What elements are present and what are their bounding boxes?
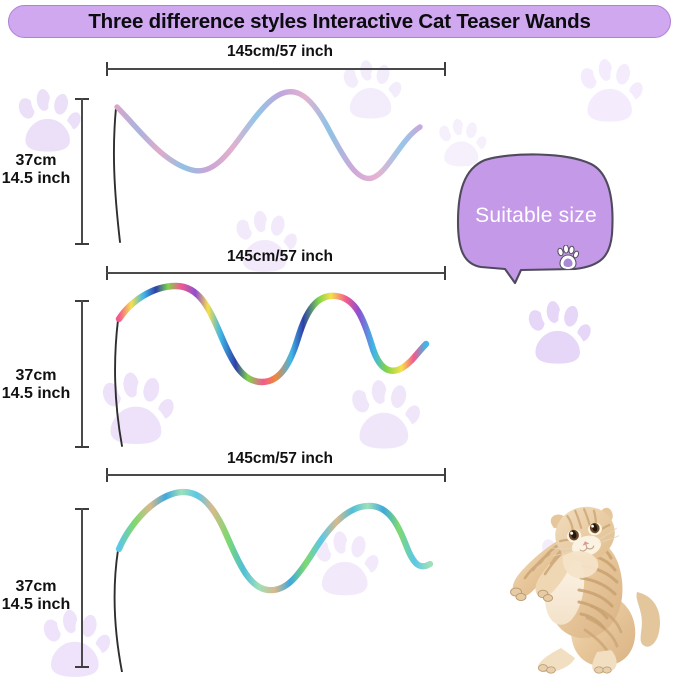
dimension-bar (81, 300, 83, 448)
wand-3-height-cm: 37cm (16, 578, 57, 595)
cat-photo (487, 500, 679, 680)
wand-2-height-label: 37cm 14.5 inch (0, 367, 72, 403)
wand-3-ribbon (100, 472, 450, 672)
wand-2-height-inch: 14.5 inch (2, 385, 70, 402)
wand-3-height-label: 37cm 14.5 inch (0, 578, 72, 614)
wand-3-height-inch: 14.5 inch (2, 596, 70, 613)
dimension-cap-bottom (75, 243, 89, 245)
wand-1-height-dimension-line (75, 98, 89, 245)
decorative-paw-icon (566, 48, 650, 134)
wand-1-height-label: 37cm 14.5 inch (0, 152, 72, 188)
wand-3-height-dimension-line (75, 508, 89, 668)
dimension-bar (81, 508, 83, 668)
wand-2-height-cm: 37cm (16, 367, 57, 384)
infographic-canvas: Three difference styles Interactive Cat … (0, 0, 679, 680)
wand-1-ribbon (100, 70, 450, 250)
wand-1-length-label: 145cm/57 inch (160, 43, 400, 61)
wand-1-height-cm: 37cm (16, 152, 57, 169)
dimension-cap-bottom (75, 446, 89, 448)
page-title: Three difference styles Interactive Cat … (88, 10, 590, 34)
wand-2-ribbon (100, 272, 450, 452)
header-banner: Three difference styles Interactive Cat … (8, 5, 671, 38)
cat-paw-icon (556, 245, 580, 271)
wand-3-length-label: 145cm/57 inch (160, 450, 400, 468)
wand-2-length-label: 145cm/57 inch (160, 248, 400, 266)
wand-1-height-inch: 14.5 inch (2, 170, 70, 187)
dimension-cap-bottom (75, 666, 89, 668)
suitable-size-callout: Suitable size (455, 152, 617, 287)
suitable-size-label: Suitable size (455, 204, 617, 228)
wand-2-height-dimension-line (75, 300, 89, 448)
dimension-bar (81, 98, 83, 245)
decorative-paw-icon (514, 290, 598, 376)
